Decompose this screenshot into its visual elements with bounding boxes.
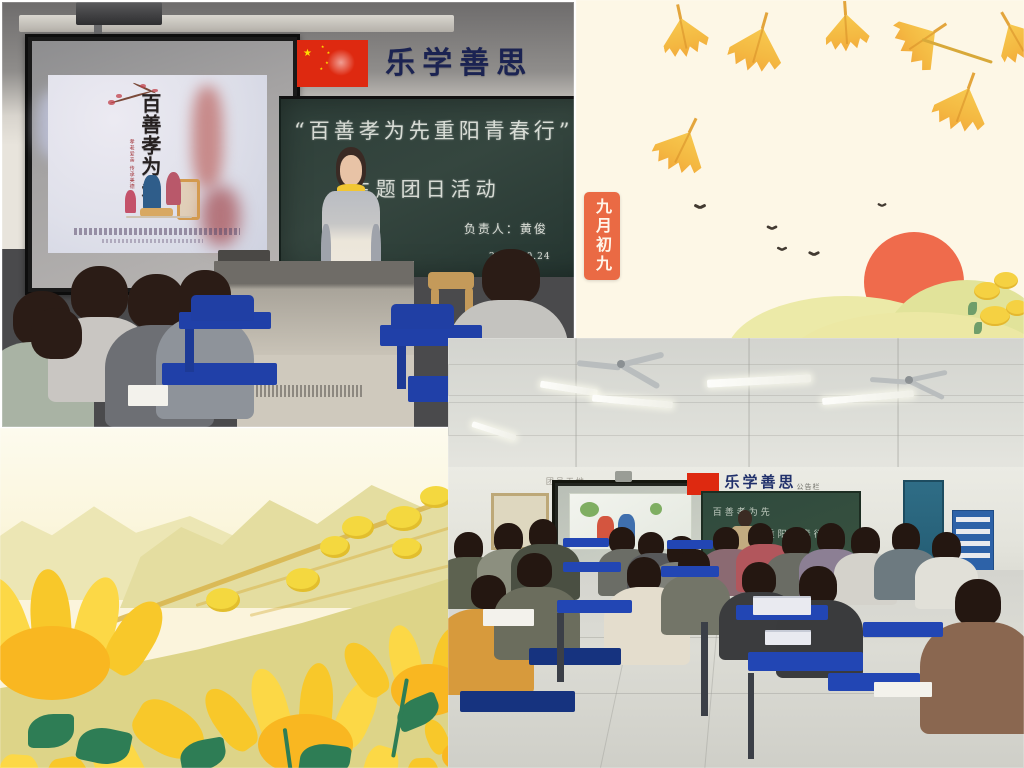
student-desk	[863, 622, 944, 637]
collage-canvas: 百善孝为先 孝老爱亲 传承美德 ★ ★ ★	[0, 0, 1024, 768]
desk-leg	[701, 622, 708, 717]
desk-leg	[185, 329, 194, 372]
teacher-head	[738, 510, 752, 527]
student-head	[128, 274, 185, 329]
mountain-foliage	[392, 538, 422, 559]
student-chair	[191, 295, 254, 321]
open-notebook	[483, 609, 535, 626]
small-green-leaf	[974, 322, 982, 334]
date-seal-stamp: 九月初九	[584, 192, 620, 280]
slide-blur-bottom-right	[201, 186, 240, 246]
chinese-flag-icon: ★ ★ ★ ★ ★	[297, 40, 369, 87]
flying-bird-icon	[808, 252, 819, 259]
open-notebook	[874, 682, 932, 697]
student-head	[31, 308, 82, 359]
ginkgo-leaf-icon	[928, 79, 994, 141]
foliage-cluster	[994, 272, 1018, 289]
flying-bird-icon	[878, 204, 887, 209]
ceiling-fan-icon	[868, 368, 948, 392]
student-head	[482, 249, 539, 304]
ginkgo-leaf-icon	[647, 121, 713, 183]
flying-bird-icon	[767, 226, 778, 232]
student-head	[517, 553, 552, 587]
slide-caption-line	[74, 228, 241, 235]
presentation-slide: 百善孝为先 孝老爱亲 传承美德	[48, 75, 267, 253]
podium-vent	[248, 385, 362, 398]
student-head	[71, 266, 128, 321]
student-desk	[748, 652, 863, 671]
ceiling-projector-icon	[615, 471, 632, 481]
mountain-foliage	[342, 516, 374, 539]
book-stack	[765, 630, 811, 645]
student-desk	[667, 540, 713, 549]
flying-bird-icon	[777, 248, 787, 254]
ginkgo-leaf-icon	[886, 8, 952, 78]
illustration-ground	[126, 216, 192, 219]
podium-top	[214, 261, 414, 283]
student-shoulders	[920, 622, 1024, 734]
notebook-paper	[128, 385, 168, 406]
student-desk	[460, 691, 575, 713]
foliage-cluster	[1006, 300, 1024, 316]
desk-leg	[397, 346, 406, 389]
student-desk	[563, 562, 621, 573]
student-head	[742, 562, 777, 596]
speaker-face	[340, 155, 363, 186]
illustration-top-right-ginkgo: 九月初九	[576, 0, 1024, 340]
illustration-child	[125, 190, 136, 213]
student-desk	[529, 648, 621, 665]
chrysanthemum-flower	[0, 572, 150, 732]
ginkgo-leaf-icon	[659, 13, 712, 62]
flag-glare	[327, 49, 356, 76]
wall-motto-text: 乐学善思	[385, 38, 533, 82]
student-chair	[391, 304, 454, 330]
illustration-adult	[143, 175, 160, 211]
ceiling-projector-icon	[76, 2, 162, 25]
student-head	[955, 579, 1001, 626]
classroom-ceiling	[448, 338, 1024, 484]
mountain-foliage	[286, 568, 320, 592]
mountain-foliage	[386, 506, 422, 531]
mountain-foliage	[320, 536, 350, 558]
photo-bottom-right-classroom: 团员天地 乐学善思 公告栏 百善孝为先 重阳青春行 主题团日活动	[448, 338, 1024, 768]
small-green-leaf	[968, 302, 977, 315]
desk-leg	[557, 613, 564, 682]
slide-family-illustration	[120, 170, 199, 223]
illustration-elder	[166, 172, 182, 205]
illustration-bottom-left-chrysanthemum	[0, 428, 452, 768]
slide-caption-subline	[102, 239, 203, 243]
student-desk	[661, 566, 719, 577]
ginkgo-leaf-icon	[989, 13, 1024, 71]
student-desk	[557, 600, 632, 613]
ginkgo-leaf-icon	[824, 12, 871, 53]
ginkgo-leaf-icon	[724, 21, 789, 80]
student-desk	[563, 538, 609, 547]
flying-bird-icon	[694, 205, 706, 212]
chalkboard-line-3: 负责人：黄俊	[464, 220, 548, 237]
chalkboard-line-1: “百善孝为先重阳青春行”	[294, 115, 573, 145]
mountain-foliage	[206, 588, 240, 612]
ceiling-fan-icon	[575, 351, 665, 377]
student-desk	[162, 363, 276, 384]
desk-leg	[748, 673, 755, 759]
wall-motto-text: 乐学善思	[724, 471, 796, 492]
book-stack	[753, 596, 811, 615]
